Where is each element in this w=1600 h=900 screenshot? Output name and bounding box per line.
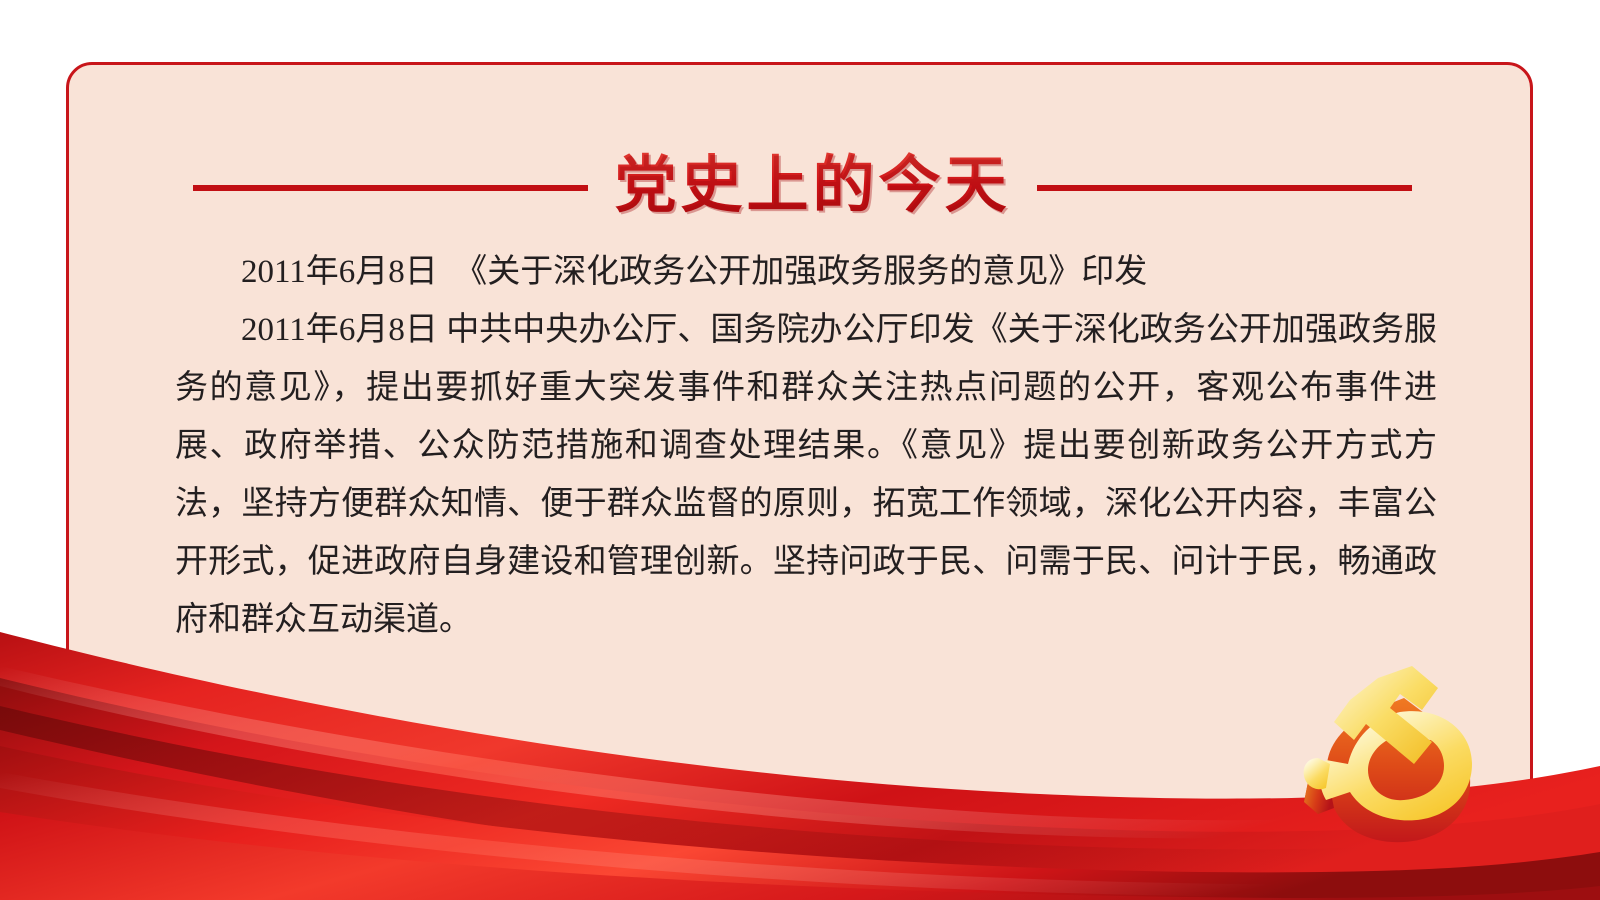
article-body: 2011年6月8日 《关于深化政务公开加强政务服务的意见》印发 2011年6月8…	[175, 243, 1437, 649]
title-rule-right-icon	[1037, 185, 1412, 191]
headline-line: 2011年6月8日 《关于深化政务公开加强政务服务的意见》印发	[175, 243, 1437, 301]
slide-canvas: 党史上的今天 2011年6月8日 《关于深化政务公开加强政务服务的意见》印发 2…	[0, 0, 1600, 900]
page-title: 党史上的今天	[610, 149, 1014, 227]
title-row: 党史上的今天	[69, 133, 1533, 243]
content-card: 党史上的今天 2011年6月8日 《关于深化政务公开加强政务服务的意见》印发 2…	[66, 62, 1533, 852]
body-paragraph: 2011年6月8日 中共中央办公厅、国务院办公厅印发《关于深化政务公开加强政务服…	[175, 301, 1437, 649]
title-rule-left-icon	[193, 185, 588, 191]
